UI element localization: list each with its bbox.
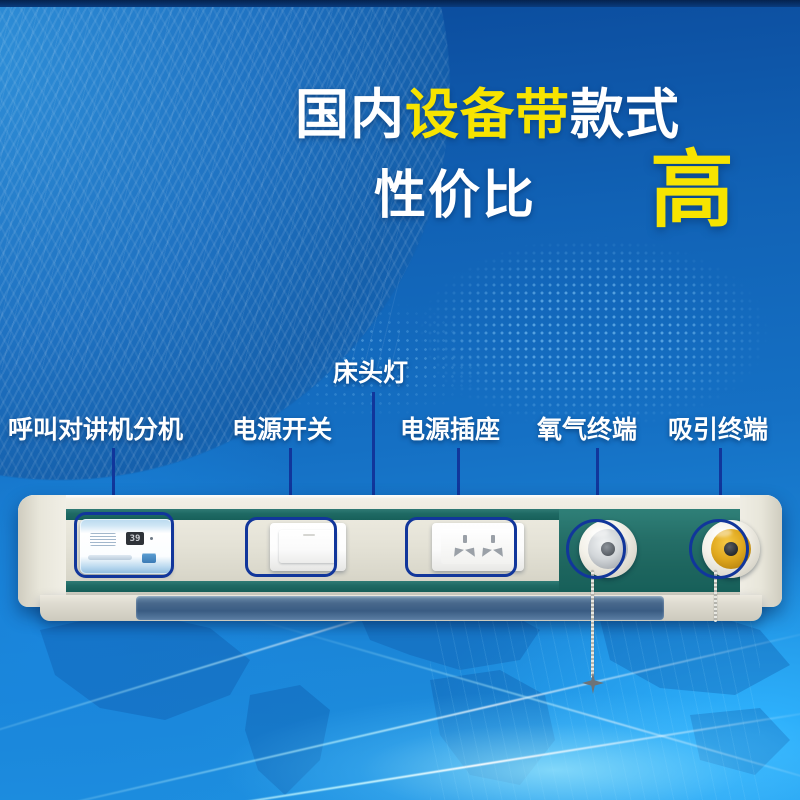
headline-line1-part3: 款式 <box>570 83 680 146</box>
callout-label-suction-terminal: 吸引终端 <box>668 417 768 442</box>
highlight-box-nurse-call-intercom <box>74 512 174 578</box>
highlight-circle-suction-terminal <box>689 519 749 579</box>
callout-label-oxygen-terminal: 氧气终端 <box>537 417 637 442</box>
oxygen-terminal-chain <box>591 570 594 678</box>
top-navy-strip <box>0 0 800 7</box>
light-rays <box>0 0 400 370</box>
panel-rail-blue-insert <box>136 596 664 620</box>
panel-end-cap-left <box>18 495 66 607</box>
callout-label-nurse-call-intercom: 呼叫对讲机分机 <box>8 417 183 442</box>
callout-label-power-socket: 电源插座 <box>400 417 500 442</box>
highlight-circle-oxygen-terminal <box>566 519 626 579</box>
headline-line1-part1: 国内 <box>295 83 405 146</box>
callout-label-bed-lamp: 床头灯 <box>333 360 408 385</box>
callout-label-power-switch: 电源开关 <box>232 417 332 442</box>
product-banner: 国内设备带款式 性价比 高 呼叫对讲机分机 电源开关 床头灯 电源插座 氧气终端… <box>0 0 800 800</box>
headline-line-1: 国内设备带款式 <box>295 88 680 142</box>
headline-line-2: 性价比 <box>374 170 536 222</box>
headline-line1-highlight: 设备带 <box>405 83 570 146</box>
highlight-box-power-socket <box>405 517 517 577</box>
headline-emphasis: 高 <box>650 148 734 232</box>
highlight-box-power-switch <box>245 517 337 577</box>
